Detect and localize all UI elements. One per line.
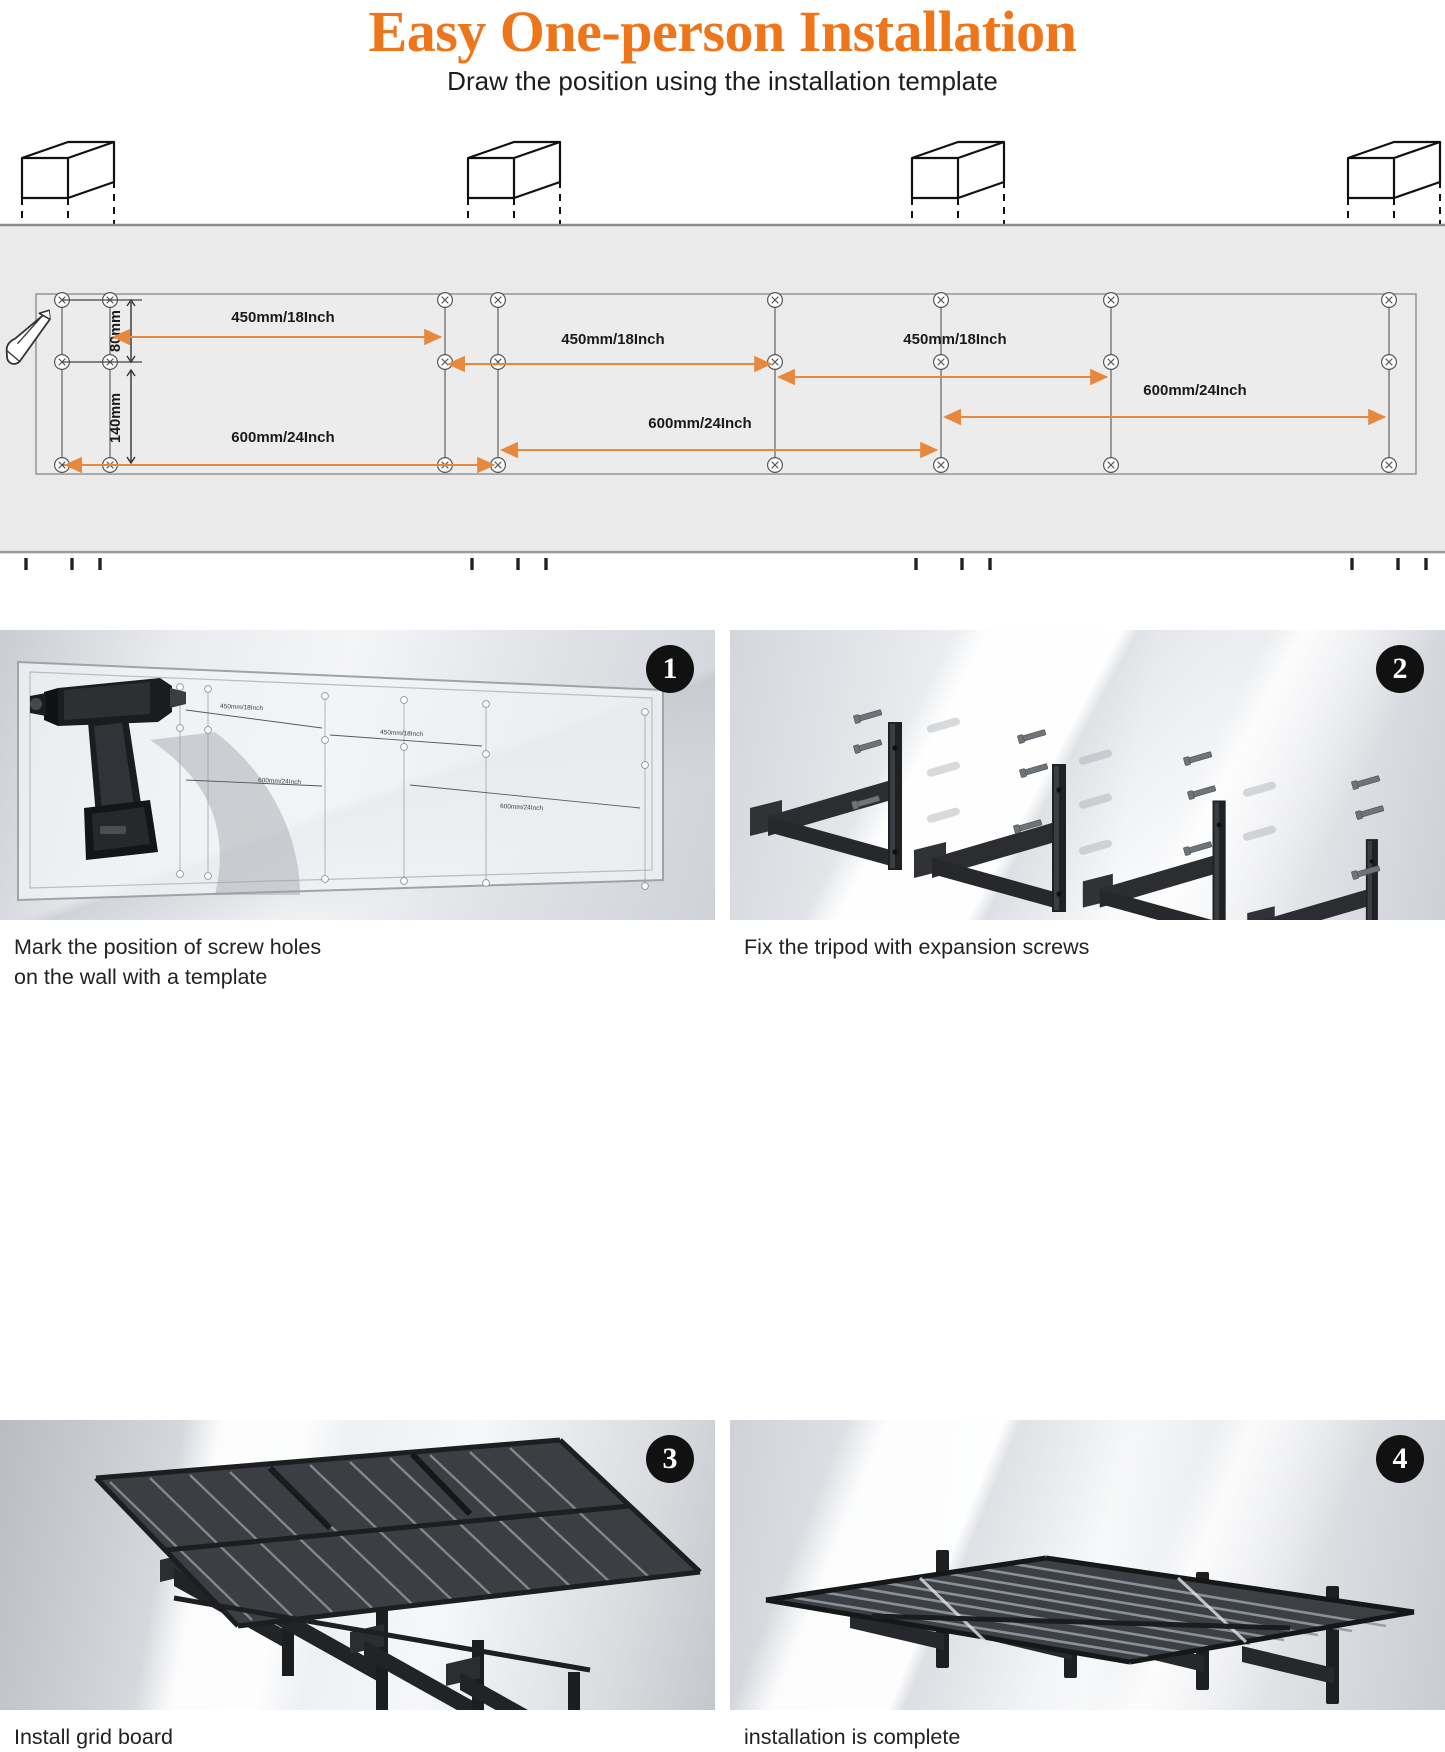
bracket-top-4: [1348, 142, 1440, 224]
screw-hole: [934, 355, 949, 370]
dimension-label-450-3: 450mm/18Inch: [903, 331, 1006, 348]
step-badge-2: 2: [1377, 646, 1423, 692]
bracket-foot-ticks: [26, 558, 1426, 570]
step-caption-3: Install grid board: [14, 1722, 173, 1752]
page-title: Easy One-person Installation: [0, 0, 1445, 65]
screw-hole: [438, 293, 453, 308]
step-card-2: 2 Fix the tripod with expansion screws: [730, 630, 1445, 920]
step-badge-4: 4: [1377, 1436, 1423, 1482]
screw-hole: [768, 458, 783, 473]
screw-hole: [768, 293, 783, 308]
bracket-top-1: [22, 142, 114, 224]
installation-infographic: Easy One-person Installation Draw the po…: [0, 0, 1445, 1370]
screw-hole: [1104, 293, 1119, 308]
step-photo-3: 3: [0, 1420, 715, 1710]
grid-board: [766, 1558, 1414, 1662]
step-card-1: 450mm/18Inch 450mm/18Inch 600mm/24Inch 6…: [0, 630, 715, 920]
installation-template-diagram: 80mm 140mm 450mm/18Inch 450mm/18Inch 450…: [0, 130, 1445, 570]
bracket-top-3: [912, 142, 1004, 224]
dimension-label-450-2: 450mm/18Inch: [561, 331, 664, 348]
dimension-label-600-3: 600mm/24Inch: [1143, 382, 1246, 399]
screw-hole: [934, 458, 949, 473]
step-badge-1: 1: [647, 646, 693, 692]
dimension-label-450-1: 450mm/18Inch: [231, 309, 334, 326]
step-photo-2: 2: [730, 630, 1445, 920]
wall-bracket: [914, 764, 1066, 912]
screw-hole: [1104, 355, 1119, 370]
screw-hole: [491, 355, 506, 370]
installation-steps: 450mm/18Inch 450mm/18Inch 600mm/24Inch 6…: [0, 630, 1445, 1375]
step-badge-3: 3: [647, 1436, 693, 1482]
screw-hole: [1104, 458, 1119, 473]
screw-hole: [934, 293, 949, 308]
screw-hole: [438, 355, 453, 370]
page-subtitle: Draw the position using the installation…: [0, 66, 1445, 97]
step-caption-4: installation is complete: [744, 1722, 960, 1752]
step-photo-1: 450mm/18Inch 450mm/18Inch 600mm/24Inch 6…: [0, 630, 715, 920]
dimension-label-140mm: 140mm: [108, 393, 124, 443]
screw-hole: [1382, 355, 1397, 370]
step-card-3: 3 Install grid board: [0, 1420, 715, 1710]
dimension-label-600-2: 600mm/24Inch: [648, 415, 751, 432]
bracket-top-2: [468, 142, 560, 224]
dimension-label-600-1: 600mm/24Inch: [231, 429, 334, 446]
step-card-4: 4 installation is complete: [730, 1420, 1445, 1710]
screw-hole: [491, 293, 506, 308]
step-photo-4: 4: [730, 1420, 1445, 1710]
wall-bracket: [1247, 839, 1378, 920]
step-caption-1: Mark the position of screw holes on the …: [14, 932, 321, 992]
wall-bracket: [1083, 800, 1226, 920]
step-caption-2: Fix the tripod with expansion screws: [744, 932, 1089, 962]
dimension-label-80mm: 80mm: [108, 310, 124, 352]
screw-hole: [768, 355, 783, 370]
screw-hole: [1382, 458, 1397, 473]
screw-hole: [1382, 293, 1397, 308]
